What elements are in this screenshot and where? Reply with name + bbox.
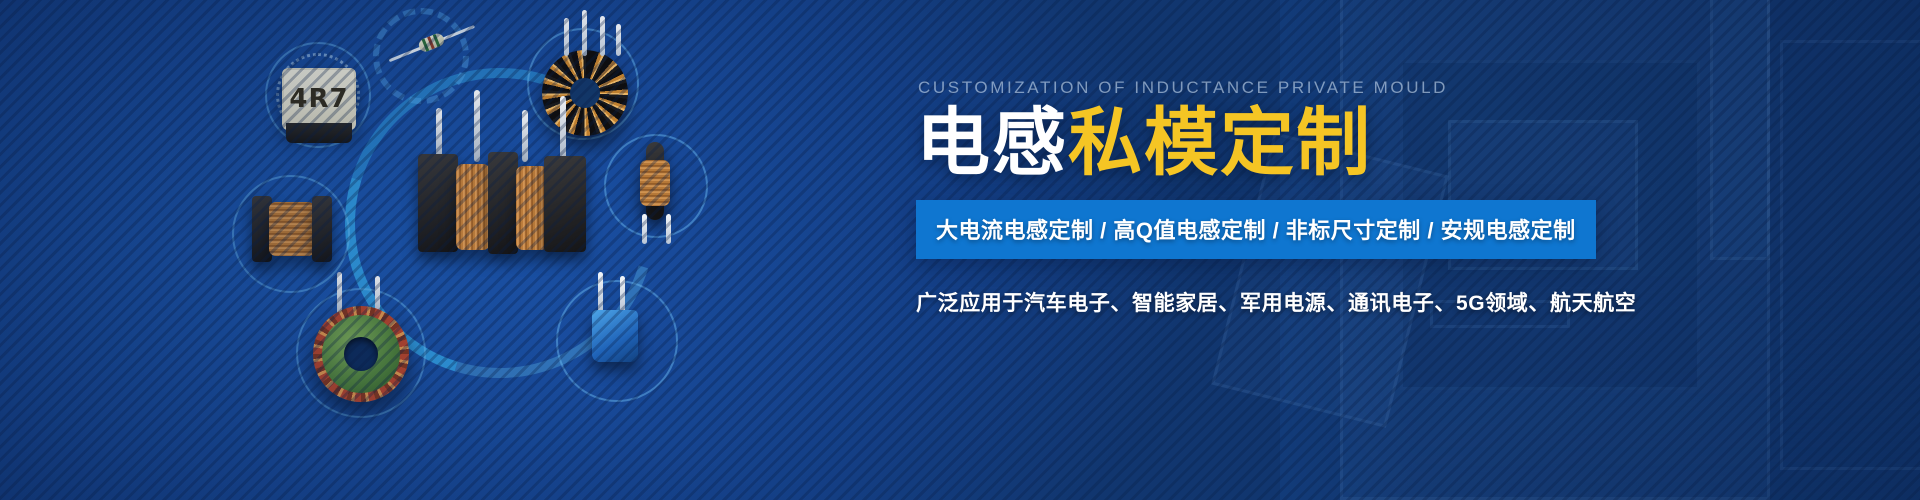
choke-pair-core-mid — [488, 152, 518, 254]
machine-column — [1710, 0, 1770, 260]
product-green-toroid-choke — [313, 306, 409, 402]
rod-coil — [640, 160, 670, 206]
rod-lead-1 — [642, 214, 647, 244]
green-toroid-lead-1 — [337, 272, 342, 314]
smd-chip-body: 4R7 — [282, 68, 356, 130]
blue-cap-body — [592, 310, 638, 362]
feature-list-bar: 大电流电感定制 / 高Q值电感定制 / 非标尺寸定制 / 安规电感定制 — [916, 200, 1596, 259]
blue-cap-lead-1 — [598, 272, 603, 312]
choke-lead-4 — [616, 24, 621, 56]
product-hero-banner: 4R7 — [0, 0, 1920, 500]
banner-tagline: 广泛应用于汽车电子、智能家居、军用电源、通讯电子、5G领域、航天航空 — [916, 287, 1616, 317]
choke-pair-pin-3 — [522, 110, 528, 162]
choke-pair-coil-left — [456, 164, 490, 250]
machine-rail — [1780, 40, 1920, 470]
choke-pair-core-left — [418, 154, 458, 252]
product-blue-radial-inductor — [588, 306, 650, 392]
product-rod-core-inductor — [628, 142, 684, 238]
product-smd-power-inductor: 4R7 — [282, 68, 356, 130]
blue-cap-lead-2 — [620, 276, 625, 312]
smd-chip-base — [286, 123, 352, 143]
choke-lead-1 — [564, 18, 569, 56]
choke-pair-pin-2 — [474, 90, 480, 162]
headline-white-part: 电感 — [916, 101, 1068, 184]
choke-lead-3 — [600, 16, 605, 56]
feature-list-text: 大电流电感定制 / 高Q值电感定制 / 非标尺寸定制 / 安规电感定制 — [936, 218, 1576, 243]
banner-eyebrow: CUSTOMIZATION OF INDUCTANCE PRIVATE MOUL… — [918, 78, 1616, 98]
banner-text-block: CUSTOMIZATION OF INDUCTANCE PRIVATE MOUL… — [916, 78, 1616, 317]
choke-lead-2 — [582, 10, 587, 56]
rod-lead-2 — [666, 214, 671, 244]
choke-pair-pin-4 — [560, 96, 566, 162]
bobbin-flange-right — [312, 196, 332, 262]
banner-headline: 电感私模定制 — [916, 104, 1616, 182]
axial-body — [417, 32, 446, 54]
green-toroid-body — [313, 306, 409, 402]
bobbin-coil — [269, 202, 315, 256]
product-common-mode-choke-pair — [418, 112, 588, 262]
choke-pair-core-right — [544, 156, 586, 252]
headline-gold-part: 私模定制 — [1068, 101, 1372, 184]
smd-chip-marking: 4R7 — [289, 84, 348, 114]
product-flat-wire-bobbin-inductor — [252, 196, 332, 262]
